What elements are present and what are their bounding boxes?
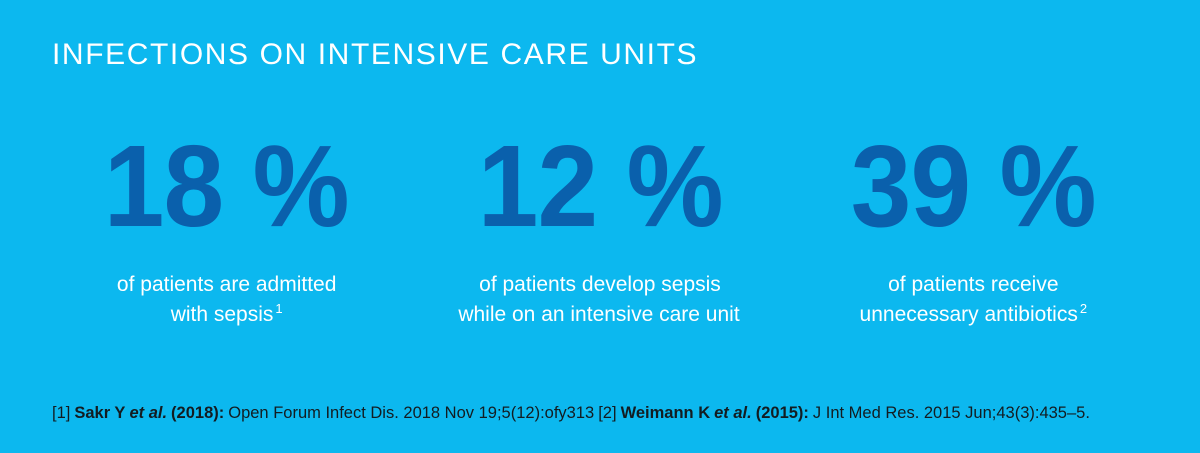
stat-value-1: 18 % <box>104 128 349 244</box>
citation-2-author: Weimann K <box>621 404 711 422</box>
citations: [1]Sakr Yet al.(2018):Open Forum Infect … <box>52 403 1160 424</box>
stat-block-2: 12 % of patients develop sepsis while on… <box>413 128 786 330</box>
stat-caption-1: of patients are admitted with sepsis1 <box>117 270 336 330</box>
citation-1-year: (2018): <box>171 404 224 422</box>
page-title: INFECTIONS ON INTENSIVE CARE UNITS <box>52 38 698 72</box>
footnote-marker-3: 2 <box>1078 301 1087 316</box>
stat-caption-2: of patients develop sepsis while on an i… <box>458 270 741 330</box>
footnote-marker-1: 1 <box>273 301 282 316</box>
stat-value-3: 39 % <box>851 128 1096 244</box>
stat-caption-2-line2: while on an intensive care unit <box>458 303 739 326</box>
citation-2-ref: [2] <box>598 404 616 422</box>
stat-caption-3-line1: of patients receive <box>888 273 1058 296</box>
citation-1-ref: [1] <box>52 404 70 422</box>
stat-caption-2-line1: of patients develop sepsis <box>479 273 721 296</box>
footnote-marker-2 <box>740 301 742 316</box>
citation-2-etal: et al. <box>714 404 752 422</box>
stat-block-1: 18 % of patients are admitted with sepsi… <box>40 128 413 330</box>
citation-1-author: Sakr Y <box>74 404 125 422</box>
citation-2-year: (2015): <box>756 404 809 422</box>
stat-caption-3-line2: unnecessary antibiotics <box>860 303 1078 326</box>
citation-2-source: J Int Med Res. 2015 Jun;43(3):435–5. <box>813 404 1090 422</box>
stat-caption-1-line2: with sepsis <box>171 303 274 326</box>
stat-block-3: 39 % of patients receive unnecessary ant… <box>787 128 1160 330</box>
infographic-root: INFECTIONS ON INTENSIVE CARE UNITS 18 % … <box>0 0 1200 453</box>
stat-value-2: 12 % <box>478 128 723 244</box>
stat-caption-1-line1: of patients are admitted <box>117 273 336 296</box>
citation-1-source: Open Forum Infect Dis. 2018 Nov 19;5(12)… <box>228 404 594 422</box>
citation-1-etal: et al. <box>129 404 167 422</box>
stat-caption-3: of patients receive unnecessary antibiot… <box>860 270 1088 330</box>
statistics-row: 18 % of patients are admitted with sepsi… <box>40 128 1160 330</box>
